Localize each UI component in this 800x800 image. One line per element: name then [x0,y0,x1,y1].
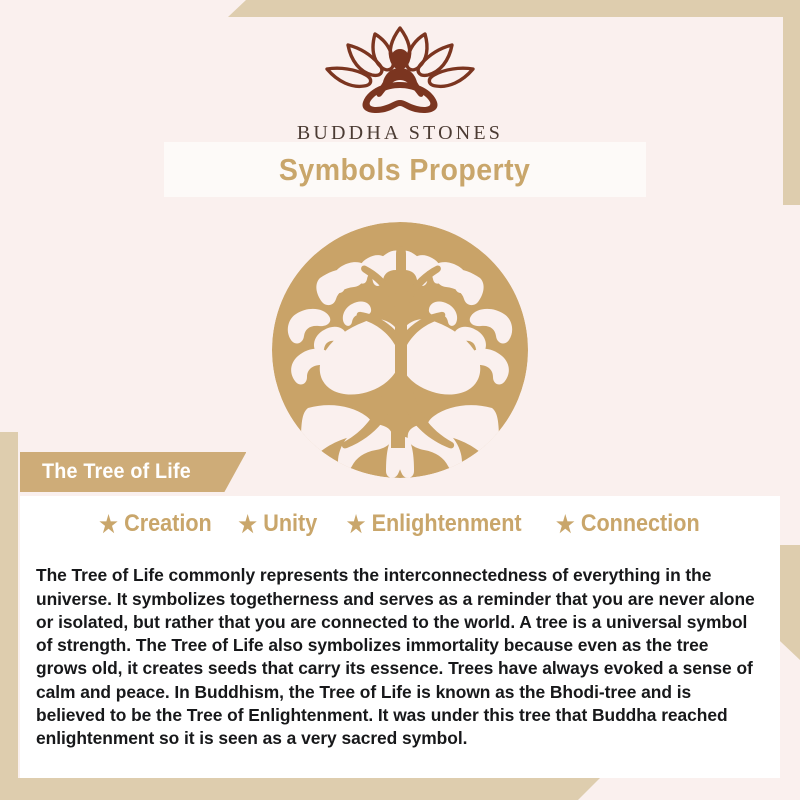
keyword-item-unity: ★ Unity [238,510,317,538]
section-label: The Tree of Life [42,460,191,484]
keyword-label: Enlightenment [372,510,522,538]
section-label-banner: The Tree of Life [20,452,246,492]
keyword-item-connection: ★ Connection [556,510,700,538]
keyword-label: Unity [263,510,317,538]
keyword-list: ★ Creation ★ Unity ★ Enlightenment ★ Con… [20,496,780,538]
keyword-item-creation: ★ Creation [99,510,211,538]
keyword-label: Connection [580,510,699,538]
star-icon: ★ [347,513,366,536]
frame-band-left [0,432,18,782]
star-icon: ★ [99,513,118,536]
body-paragraph: The Tree of Life commonly represents the… [20,555,780,750]
keyword-label: Creation [124,510,212,538]
content-card: ★ Creation ★ Unity ★ Enlightenment ★ Con… [20,496,780,778]
brand-logo: BUDDHA STONES [0,20,800,145]
page-title-banner: Symbols Property [164,142,646,197]
star-icon: ★ [238,513,257,536]
poster-page: BUDDHA STONES Symbols Property [0,0,800,800]
star-icon: ★ [556,513,575,536]
page-title: Symbols Property [279,152,530,188]
lotus-meditation-icon [305,20,495,116]
frame-band-bottom [0,778,600,800]
frame-band-top [228,0,800,17]
tree-of-life-icon [268,218,532,482]
keyword-item-enlightenment: ★ Enlightenment [347,510,522,538]
